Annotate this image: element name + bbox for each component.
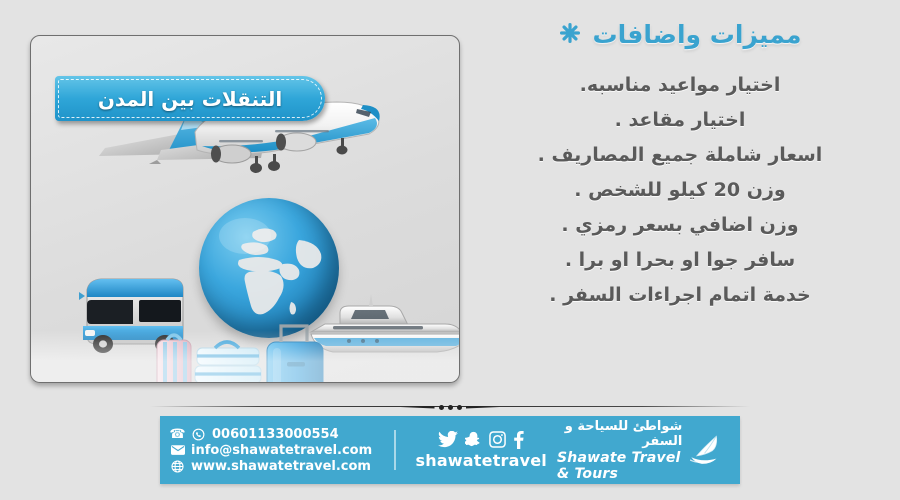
features-panel: مميزات واضافات اختيار مواعيد مناسبه. اخت…: [470, 10, 890, 385]
divider-ornament: [401, 405, 500, 410]
instagram-icon[interactable]: [489, 431, 506, 448]
logo-english-name: Shawate Travel & Tours: [557, 450, 682, 482]
footer-divider: [394, 430, 395, 470]
footer-contact-bar: ☎ 00601133000554 info@shawatetravel.com: [160, 416, 740, 484]
decorative-divider: [150, 400, 750, 414]
social-media: shawatetravel: [406, 431, 558, 470]
envelope-icon: [170, 445, 185, 455]
company-logo: شواطئ للسياحة و السفر Shawate Travel & T…: [557, 419, 740, 482]
feature-item: اختيار مواعيد مناسبه.: [470, 67, 890, 102]
email-row[interactable]: info@shawatetravel.com: [170, 443, 372, 458]
feature-item: اسعار شاملة جميع المصاريف .: [470, 137, 890, 172]
phone-number: 00601133000554: [212, 427, 339, 442]
feature-item: خدمة اتمام اجراءات السفر .: [470, 277, 890, 312]
website-row[interactable]: www.shawatetravel.com: [170, 459, 372, 474]
sailboat-icon: [690, 427, 726, 473]
reflection-floor: [31, 330, 459, 382]
feature-item: وزن 20 كيلو للشخص .: [470, 172, 890, 207]
snapchat-icon[interactable]: [465, 431, 482, 448]
phone-row[interactable]: ☎ 00601133000554: [170, 427, 372, 442]
telephone-icon: ☎: [170, 427, 185, 442]
whatsapp-icon: [191, 428, 206, 441]
facebook-icon[interactable]: [513, 431, 524, 449]
asterisk-icon: [559, 22, 581, 48]
features-heading: مميزات واضافات: [470, 20, 890, 49]
features-heading-text: مميزات واضافات: [593, 20, 802, 49]
contact-info: ☎ 00601133000554 info@shawatetravel.com: [160, 427, 384, 474]
feature-item: سافر جوا او بحرا او برا .: [470, 242, 890, 277]
website-url: www.shawatetravel.com: [191, 459, 371, 474]
logo-arabic-name: شواطئ للسياحة و السفر: [557, 419, 682, 449]
feature-item: وزن اضافي بسعر رمزي .: [470, 207, 890, 242]
twitter-icon[interactable]: [438, 431, 458, 448]
promo-ribbon-banner: التنقلات بين المدن: [55, 76, 325, 121]
globe-icon: [170, 460, 185, 473]
social-icon-row: [438, 431, 524, 449]
features-list: اختيار مواعيد مناسبه. اختيار مقاعد . اسع…: [470, 67, 890, 312]
ribbon-title: التنقلات بين المدن: [98, 87, 282, 111]
feature-item: اختيار مقاعد .: [470, 102, 890, 137]
promo-image-card: التنقلات بين المدن: [30, 35, 460, 383]
email-address: info@shawatetravel.com: [191, 443, 372, 458]
logo-text-group: شواطئ للسياحة و السفر Shawate Travel & T…: [557, 419, 682, 482]
social-handle: shawatetravel: [416, 451, 548, 470]
